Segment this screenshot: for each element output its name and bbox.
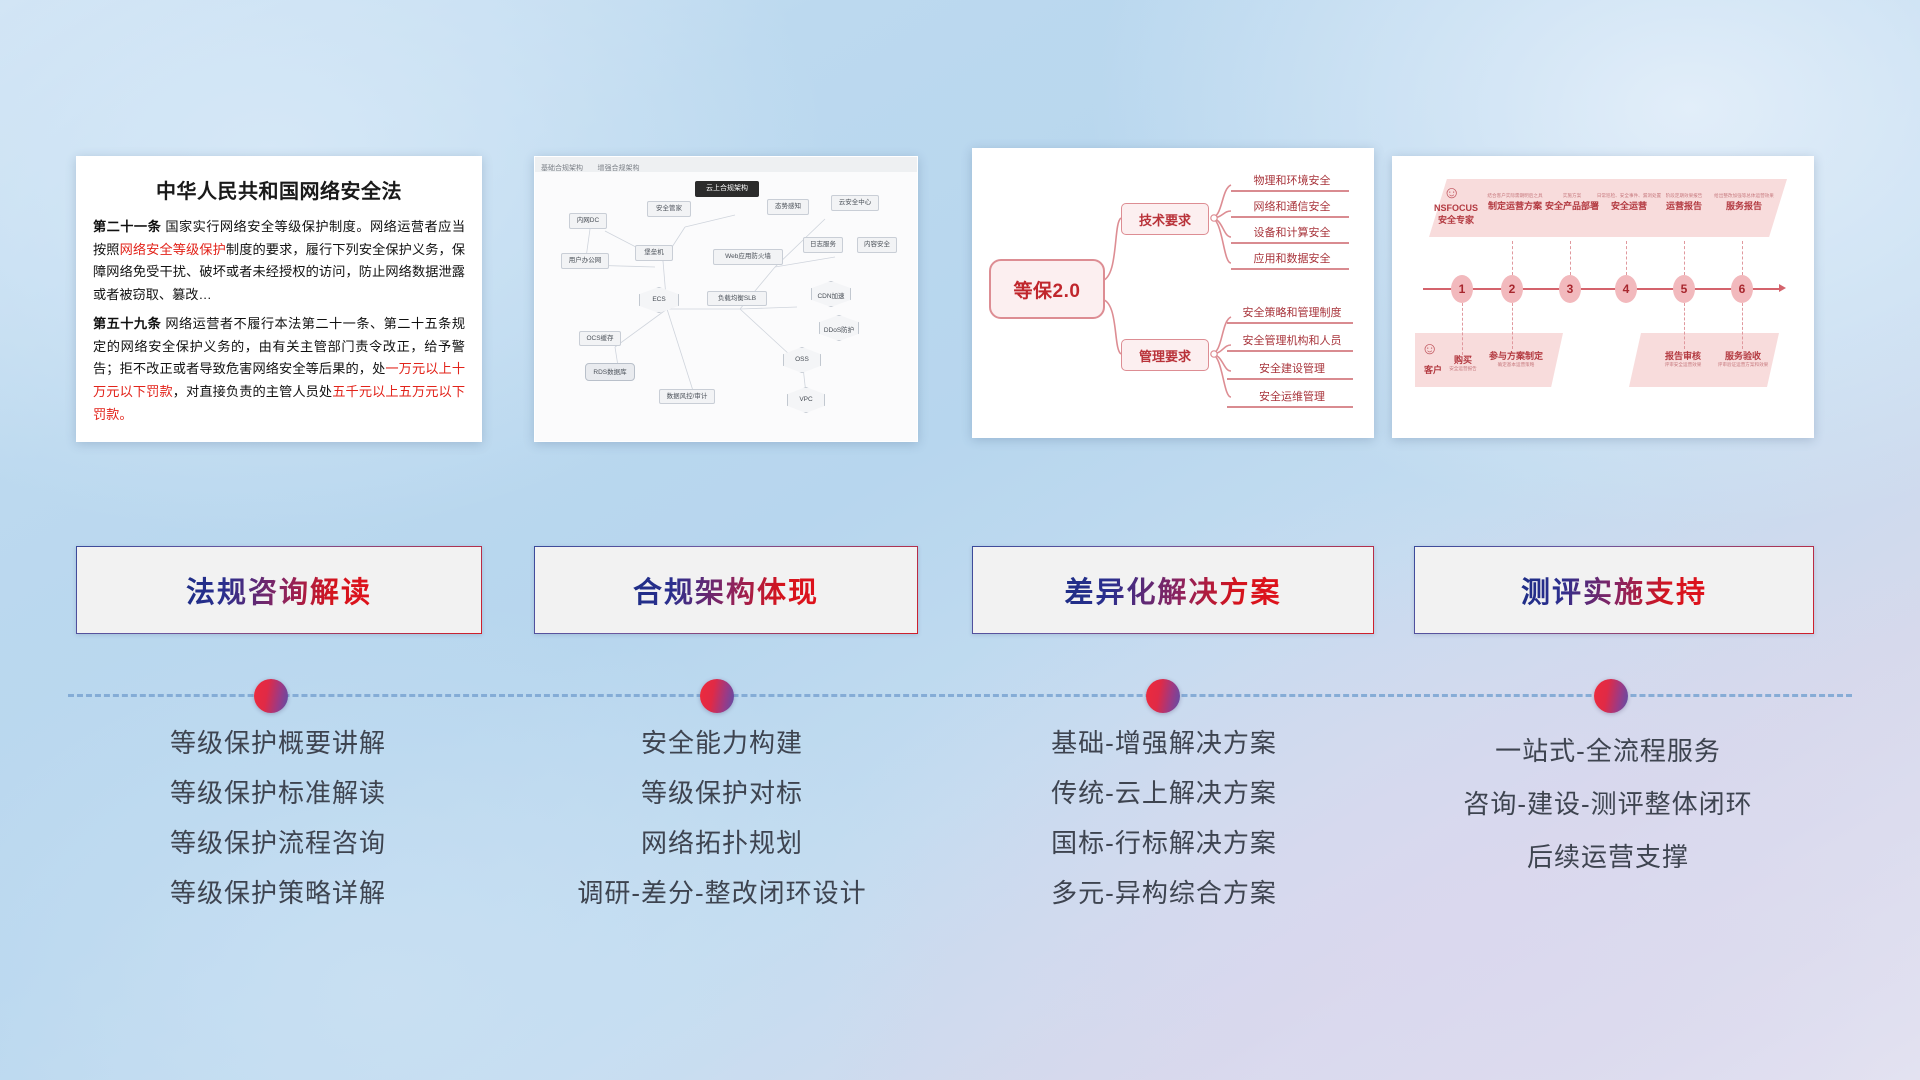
process-step-number: 5	[1673, 275, 1695, 303]
list-item: 一站式-全流程服务	[1396, 738, 1820, 764]
mindmap-leaf: 安全建设管理	[1227, 359, 1353, 380]
architecture-node: 数据风控/审计	[659, 389, 715, 404]
card-mindmap-dengbao[interactable]: 等保2.0 技术要求 管理要求 物理和环境安全 网络和通信安全 设备和计算安全 …	[972, 148, 1374, 438]
architecture-node: 态势感知	[767, 199, 809, 215]
mindmap-leaf: 网络和通信安全	[1231, 197, 1349, 218]
process-step-bottom-label: 服务验收 评审验证运营方案和效果	[1709, 349, 1777, 368]
timeline-dot-3[interactable]	[1146, 679, 1180, 713]
list-item: 等级保护策略详解	[66, 880, 490, 906]
process-step-bottom-label: 报告审核 评审安全运营效果	[1651, 349, 1715, 368]
process-step-number: 1	[1451, 275, 1473, 303]
process-axis	[1423, 288, 1781, 290]
category-button-label: 法规咨询解读	[186, 569, 372, 611]
process-step-bottom-label: 参与方案制定 确定基本运营策略	[1483, 349, 1549, 368]
mindmap-leaf: 安全管理机构和人员	[1227, 331, 1353, 352]
law-run-1-1: 网络安全等级保护	[120, 242, 226, 257]
list-item: 等级保护对标	[510, 780, 934, 806]
architecture-node: 安全管家	[647, 201, 691, 217]
detail-column-4: 一站式-全流程服务 咨询-建设-测评整体闭环 后续运营支撑	[1396, 738, 1820, 897]
detail-columns: 等级保护概要讲解 等级保护标准解读 等级保护流程咨询 等级保护策略详解 安全能力…	[0, 730, 1920, 960]
list-item: 调研-差分-整改闭环设计	[510, 880, 934, 906]
process-step-connector	[1512, 303, 1514, 349]
architecture-node: 负载均衡SLB	[707, 291, 767, 306]
mindmap-leaf: 物理和环境安全	[1231, 171, 1349, 192]
process-step-connector	[1742, 303, 1744, 349]
mindmap-leaf: 安全运维管理	[1227, 387, 1353, 408]
nsfocus-process-diagram: ☺ NSFOCUS 安全专家 ☺ 客户 1 购买 安全运营报告	[1393, 157, 1813, 437]
mindmap-branch-management: 管理要求	[1121, 339, 1209, 371]
mindmap-branch-technical: 技术要求	[1121, 203, 1209, 235]
detail-column-3: 基础-增强解决方案 传统-云上解决方案 国标-行标解决方案 多元-异构综合方案	[952, 730, 1376, 930]
architecture-node: 用户办公网	[561, 253, 609, 269]
process-step-number: 2	[1501, 275, 1523, 303]
category-button-label: 差异化解决方案	[1064, 569, 1281, 611]
step-label: 参与方案制定	[1483, 349, 1549, 362]
process-step-number: 3	[1559, 275, 1581, 303]
architecture-diagram: 基础合规架构 增强合规架构 云上合规架构 内网DC 安全管家	[535, 157, 917, 441]
step-sublabel: 评审验证运营方案和效果	[1709, 362, 1777, 368]
step-sublabel: 评审安全运营效果	[1651, 362, 1715, 368]
process-step-bottom-label: 购买 安全运营报告	[1437, 353, 1489, 372]
list-item: 网络拓扑规划	[510, 830, 934, 856]
law-article-label-2: 第五十九条	[93, 316, 161, 331]
detail-column-1: 等级保护概要讲解 等级保护标准解读 等级保护流程咨询 等级保护策略详解	[66, 730, 490, 930]
list-item: 国标-行标解决方案	[952, 830, 1376, 856]
process-step-connector	[1570, 241, 1572, 275]
mindmap-root-node: 等保2.0	[989, 259, 1105, 319]
customer-person-icon: ☺	[1421, 339, 1438, 359]
detail-column-2: 安全能力构建 等级保护对标 网络拓扑规划 调研-差分-整改闭环设计	[510, 730, 934, 930]
step-sublabel: 确定基本运营策略	[1483, 362, 1549, 368]
architecture-node: OCS缓存	[579, 331, 621, 346]
process-step-connector	[1684, 303, 1686, 349]
step-label: 服务验收	[1709, 349, 1777, 362]
provider-title: NSFOCUS	[1427, 203, 1485, 213]
process-step-number: 6	[1731, 275, 1753, 303]
step-label: 运营报告	[1653, 199, 1715, 212]
law-content: 中华人民共和国网络安全法 第二十一条 国家实行网络安全等级保护制度。网络运营者应…	[77, 157, 481, 441]
process-step-connector	[1626, 241, 1628, 275]
step-label: 服务报告	[1709, 199, 1779, 212]
timeline-dashed-line	[68, 694, 1852, 697]
step-sublabel: 安全运营报告	[1437, 366, 1489, 372]
law-article-label-1: 第二十一条	[93, 219, 161, 234]
process-step-connector	[1742, 241, 1744, 275]
architecture-node: Web应用防火墙	[713, 249, 783, 265]
list-item: 安全能力构建	[510, 730, 934, 756]
mindmap-leaf: 应用和数据安全	[1231, 249, 1349, 270]
nsfocus-provider-actor: NSFOCUS 安全专家	[1427, 203, 1485, 226]
slide-canvas: 中华人民共和国网络安全法 第二十一条 国家实行网络安全等级保护制度。网络运营者应…	[0, 0, 1920, 1080]
mindmap-leaf: 设备和计算安全	[1231, 223, 1349, 244]
list-item: 等级保护流程咨询	[66, 830, 490, 856]
list-item: 等级保护概要讲解	[66, 730, 490, 756]
law-title: 中华人民共和国网络安全法	[93, 175, 465, 204]
law-run-2-2: ，对直接负责的主管人员处	[173, 384, 332, 399]
law-paragraph-1: 第二十一条 国家实行网络安全等级保护制度。网络运营者应当按照网络安全等级保护制度…	[93, 216, 465, 307]
step-label: 购买	[1437, 353, 1489, 366]
step-label: 报告审核	[1651, 349, 1715, 362]
expert-person-icon: ☺	[1443, 183, 1460, 203]
law-paragraph-2: 第五十九条 网络运营者不履行本法第二十一条、第二十五条规定的网络安全保护义务的，…	[93, 313, 465, 427]
list-item: 等级保护标准解读	[66, 780, 490, 806]
mindmap-leaf: 安全策略和管理制度	[1227, 303, 1353, 324]
architecture-node: 内网DC	[569, 213, 607, 229]
list-item: 咨询-建设-测评整体闭环	[1396, 791, 1820, 817]
category-button-regulation-consulting[interactable]: 法规咨询解读	[76, 546, 482, 634]
architecture-node: 内容安全	[857, 237, 897, 253]
timeline	[0, 660, 1920, 720]
step-sublabel: 给出整改加强等总体运营效果	[1709, 193, 1779, 199]
category-button-compliance-architecture[interactable]: 合规架构体现	[534, 546, 918, 634]
architecture-node: 堡垒机	[635, 245, 673, 261]
timeline-dot-2[interactable]	[700, 679, 734, 713]
list-item: 后续运营支撑	[1396, 844, 1820, 870]
process-step-connector	[1462, 303, 1464, 355]
process-axis-arrow-icon	[1779, 284, 1786, 292]
category-button-label: 合规架构体现	[633, 569, 819, 611]
list-item: 传统-云上解决方案	[952, 780, 1376, 806]
timeline-dot-1[interactable]	[254, 679, 288, 713]
card-nsfocus-process[interactable]: ☺ NSFOCUS 安全专家 ☺ 客户 1 购买 安全运营报告	[1392, 156, 1814, 438]
process-step-top-label: 给出整改加强等总体运营效果 服务报告	[1709, 193, 1779, 212]
process-step-connector	[1512, 241, 1514, 275]
card-row: 中华人民共和国网络安全法 第二十一条 国家实行网络安全等级保护制度。网络运营者应…	[0, 0, 1920, 460]
process-step-top-label: 阶段定期效果报告 运营报告	[1653, 193, 1715, 212]
architecture-node: RDS数据库	[585, 363, 635, 381]
category-button-row: 法规咨询解读 合规架构体现 差异化解决方案 测评实施支持	[0, 546, 1920, 646]
list-item: 多元-异构综合方案	[952, 880, 1376, 906]
card-compliance-architecture[interactable]: 基础合规架构 增强合规架构 云上合规架构 内网DC 安全管家	[534, 156, 918, 442]
architecture-node: 日志服务	[803, 237, 843, 253]
category-button-evaluation-support[interactable]: 测评实施支持	[1414, 546, 1814, 634]
category-button-label: 测评实施支持	[1521, 569, 1707, 611]
provider-subtitle: 安全专家	[1427, 213, 1485, 226]
card-cybersecurity-law[interactable]: 中华人民共和国网络安全法 第二十一条 国家实行网络安全等级保护制度。网络运营者应…	[76, 156, 482, 442]
timeline-dot-4[interactable]	[1594, 679, 1628, 713]
mindmap: 等保2.0 技术要求 管理要求 物理和环境安全 网络和通信安全 设备和计算安全 …	[973, 149, 1373, 437]
category-button-differentiated-solution[interactable]: 差异化解决方案	[972, 546, 1374, 634]
architecture-node: 云安全中心	[831, 195, 879, 211]
process-step-connector	[1684, 241, 1686, 275]
list-item: 基础-增强解决方案	[952, 730, 1376, 756]
process-step-number: 4	[1615, 275, 1637, 303]
